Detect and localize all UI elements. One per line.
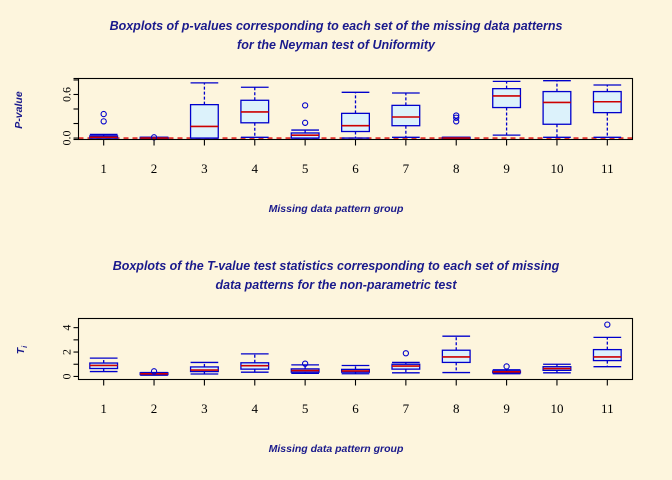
box-iqr [392, 105, 420, 125]
x-axis-tick-label: 2 [151, 161, 158, 176]
y-axis-tick-label: 0.0 [60, 131, 74, 146]
y-axis-tick-label: 0.6 [60, 87, 74, 102]
x-axis-tick-label: 8 [453, 161, 460, 176]
x-axis-tick-label: 4 [252, 401, 259, 416]
top-panel-xlabel: Missing data pattern group [269, 203, 404, 215]
x-axis-tick-label: 11 [601, 401, 614, 416]
y-axis-tick-label: 2 [60, 349, 74, 355]
x-axis-tick-label: 6 [352, 401, 359, 416]
top-panel-ylabel: P-value [13, 91, 25, 129]
x-axis-tick-label: 1 [100, 161, 107, 176]
box-iqr [191, 105, 219, 138]
box-iqr [543, 92, 571, 125]
x-axis-tick-label: 7 [403, 401, 410, 416]
box-iqr [493, 89, 521, 108]
bottom-panel-title-line1: Boxplots of the T-value test statistics … [113, 259, 560, 273]
x-axis-tick-label: 11 [601, 161, 614, 176]
top-panel-title-line1: Boxplots of p-values corresponding to ea… [110, 19, 563, 33]
x-axis-tick-label: 2 [151, 401, 158, 416]
x-axis-tick-label: 4 [252, 161, 259, 176]
x-axis-tick-label: 7 [403, 161, 410, 176]
y-axis-tick-label: 0 [60, 373, 74, 379]
box-iqr [593, 350, 621, 361]
x-axis-tick-label: 5 [302, 401, 309, 416]
x-axis-tick-label: 1 [100, 401, 107, 416]
x-axis-tick-label: 6 [352, 161, 359, 176]
x-axis-tick-label: 10 [550, 401, 563, 416]
x-axis-tick-label: 10 [550, 161, 563, 176]
x-axis-tick-label: 9 [503, 401, 510, 416]
bottom-panel-title-line2: data patterns for the non-parametric tes… [215, 278, 457, 292]
top-panel-title-line2: for the Neyman test of Uniformity [237, 38, 436, 52]
x-axis-tick-label: 5 [302, 161, 309, 176]
x-axis-tick-label: 8 [453, 401, 460, 416]
x-axis-tick-label: 3 [201, 401, 208, 416]
boxplot-figure: Boxplots of p-values corresponding to ea… [0, 0, 672, 480]
x-axis-tick-label: 3 [201, 161, 208, 176]
y-axis-tick-label: 4 [60, 325, 74, 331]
box-iqr [342, 113, 370, 131]
bottom-panel-xlabel: Missing data pattern group [269, 443, 404, 455]
x-axis-tick-label: 9 [503, 161, 510, 176]
